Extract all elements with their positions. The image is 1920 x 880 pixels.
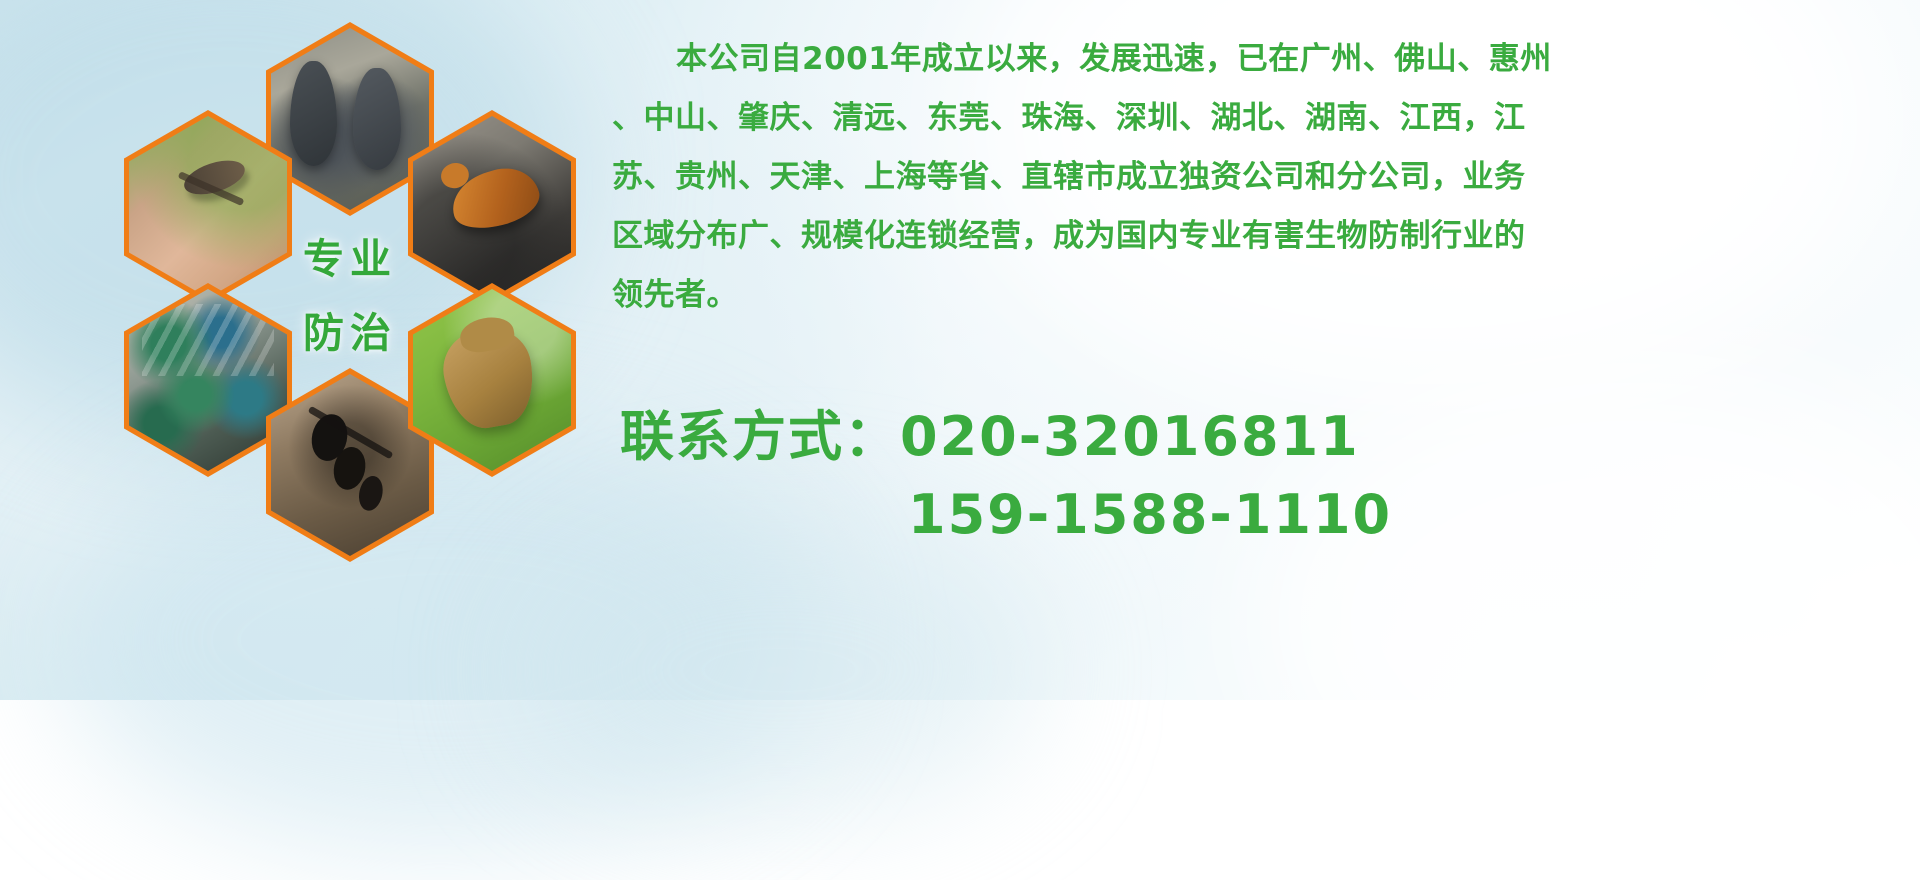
company-promo-banner: 专业 防治 本公司自2001年成立以来，发展迅速，已在广州、佛山、惠州 、中山、… [0, 0, 1920, 700]
description-line-4: 区域分布广、规模化连锁经营，成为国内专业有害生物防制行业的 [612, 207, 1882, 266]
mosquito-photo [129, 116, 287, 298]
company-description: 本公司自2001年成立以来，发展迅速，已在广州、佛山、惠州 、中山、肇庆、清远、… [612, 30, 1882, 325]
hexagon-photo-collage: 专业 防治 [88, 10, 588, 570]
ant-photo [271, 374, 429, 556]
rats-photo [271, 28, 429, 210]
stinkbug-photo [413, 289, 571, 471]
hex-inner-flies [129, 289, 287, 471]
flies-photo [129, 289, 287, 471]
cockroach-photo [413, 116, 571, 298]
contact-label: 联系方式： [620, 405, 900, 468]
description-line-3: 苏、贵州、天津、上海等省、直辖市成立独资公司和分公司，业务 [612, 148, 1882, 207]
hex-inner-rats [271, 28, 429, 210]
contact-secondary-line: 159-1588-1110 [620, 476, 1900, 554]
phone-number-primary[interactable]: 020-32016811 [900, 405, 1360, 468]
hex-inner-ant [271, 374, 429, 556]
hex-inner-stinkbug [413, 289, 571, 471]
hex-inner-mosquito [129, 116, 287, 298]
slogan-line-1: 专业 [303, 225, 397, 285]
contact-block: 联系方式：020-32016811 159-1588-1110 [620, 398, 1900, 554]
description-line-5: 领先者。 [612, 266, 1882, 325]
hex-inner-cockroach [413, 116, 571, 298]
contact-primary-line: 联系方式：020-32016811 [620, 398, 1900, 476]
slogan-line-2: 防治 [303, 299, 397, 359]
background-glow-5 [520, 520, 1040, 820]
description-line-2: 、中山、肇庆、清远、东莞、珠海、深圳、湖北、湖南、江西，江 [612, 89, 1882, 148]
phone-number-secondary[interactable]: 159-1588-1110 [908, 483, 1392, 546]
description-line-1: 本公司自2001年成立以来，发展迅速，已在广州、佛山、惠州 [612, 30, 1882, 89]
